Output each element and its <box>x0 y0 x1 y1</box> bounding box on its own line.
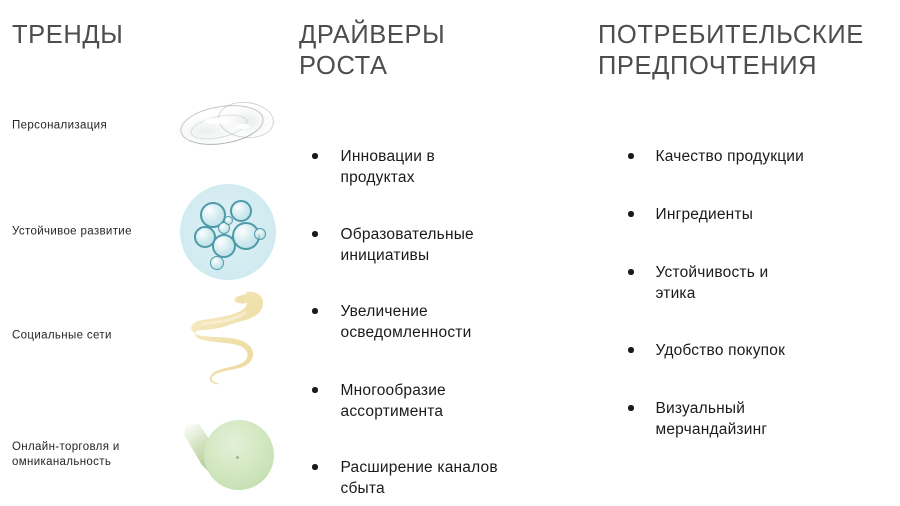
list-item-label: Расширение каналов сбыта <box>341 457 498 499</box>
blue-bubbles-texture-icon <box>180 184 276 280</box>
list-item-label: Ингредиенты <box>656 204 754 225</box>
list-item: Ингредиенты <box>628 204 888 225</box>
bullet-dot-icon <box>312 153 318 159</box>
bullet-dot-icon <box>628 347 634 353</box>
list-item: Расширение каналов сбыта <box>312 457 562 499</box>
list-item: Инновации в продуктах <box>312 146 562 188</box>
list-item-label: Устойчивость и этика <box>656 262 769 304</box>
slide-canvas: ТРЕНДЫ ДРАЙВЕРЫ РОСТА ПОТРЕБИТЕЛЬСКИЕ ПР… <box>0 0 900 506</box>
trend-label-social-media: Социальные сети <box>12 329 112 344</box>
bullet-dot-icon <box>312 308 318 314</box>
column-heading-preferences: ПОТРЕБИТЕЛЬСКИЕ ПРЕДПОЧТЕНИЯ <box>598 20 893 82</box>
bullet-dot-icon <box>628 269 634 275</box>
bullet-dot-icon <box>312 387 318 393</box>
trend-label-sustainability: Устойчивое развитие <box>12 225 132 240</box>
cream-smear-texture-icon <box>174 98 278 154</box>
list-item-label: Качество продукции <box>656 146 805 167</box>
green-drop-texture-icon <box>178 414 278 496</box>
yellow-gel-texture-icon <box>188 286 280 386</box>
column-heading-trends: ТРЕНДЫ <box>12 20 123 51</box>
list-item: Многообразие ассортимента <box>312 380 562 422</box>
list-item: Увеличение осведомленности <box>312 301 562 343</box>
bullet-dot-icon <box>628 153 634 159</box>
bullet-dot-icon <box>312 464 318 470</box>
list-item-label: Многообразие ассортимента <box>341 380 446 422</box>
column-heading-drivers: ДРАЙВЕРЫ РОСТА <box>299 20 549 82</box>
trend-label-ecommerce-omnichannel: Онлайн-торговля и омниканальность <box>12 440 120 470</box>
trend-label-personalization: Персонализация <box>12 119 107 134</box>
list-item: Образовательные инициативы <box>312 224 562 266</box>
list-item-label: Увеличение осведомленности <box>341 301 472 343</box>
list-item-label: Удобство покупок <box>656 340 786 361</box>
bullet-dot-icon <box>312 231 318 237</box>
list-item-label: Инновации в продуктах <box>341 146 436 188</box>
list-item: Качество продукции <box>628 146 888 167</box>
bullet-dot-icon <box>628 405 634 411</box>
list-item-label: Визуальный мерчандайзинг <box>656 398 768 440</box>
bullet-dot-icon <box>628 211 634 217</box>
list-item: Удобство покупок <box>628 340 888 361</box>
list-item: Визуальный мерчандайзинг <box>628 398 888 440</box>
list-item-label: Образовательные инициативы <box>341 224 474 266</box>
list-item: Устойчивость и этика <box>628 262 888 304</box>
